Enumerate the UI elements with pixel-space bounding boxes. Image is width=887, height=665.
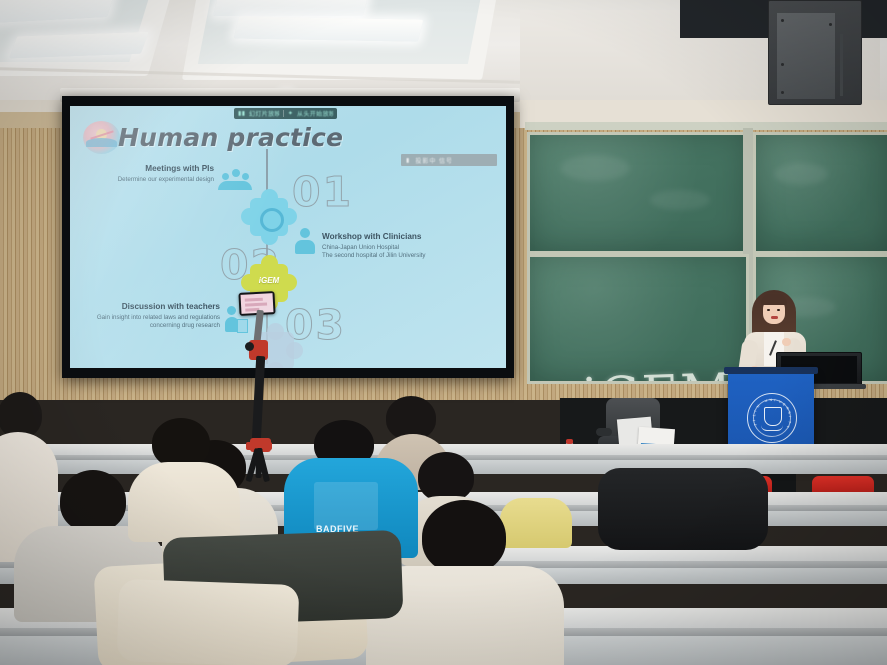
ceiling-light-panel xyxy=(213,0,369,16)
blackboard-panel-bottom-left: iGEM xyxy=(527,254,749,384)
emblem-ring-text: JILIN UNIVERSITY xyxy=(748,394,796,442)
tripod-lock-knob[interactable] xyxy=(245,342,254,351)
ceiling-light-panel xyxy=(234,16,424,41)
draped-cream-coat-over xyxy=(117,579,300,665)
step-block-03: Discussion with teachers Gain insight in… xyxy=(90,301,220,330)
step-heading-02: Workshop with Clinicians xyxy=(322,231,450,242)
black-backpack xyxy=(598,468,768,550)
team-logo xyxy=(83,121,120,154)
screen-status-chip: ▮ 投影中 信号 xyxy=(401,154,497,166)
presenter-fringe xyxy=(761,294,787,305)
step-heading-03: Discussion with teachers xyxy=(90,301,220,312)
pointer-icon[interactable]: ✦ xyxy=(288,110,293,117)
chip-text: 投影中 信号 xyxy=(415,156,453,165)
doctor-icon xyxy=(295,228,315,254)
chalk-text-igem: iGEM xyxy=(581,362,735,384)
chair-armrest xyxy=(596,428,612,436)
chip-glyph: ▮ xyxy=(406,157,410,164)
hoodie-print-panel xyxy=(314,482,378,530)
step-number-01: 01 xyxy=(292,168,353,216)
university-emblem: JILIN UNIVERSITY xyxy=(747,393,797,443)
gear-icon xyxy=(260,208,284,232)
blackboard-panel-top-right xyxy=(753,132,887,254)
audience-member-foreground-right xyxy=(396,500,526,665)
blackboard-panel-top-left xyxy=(527,132,749,254)
speaker-mount-arm xyxy=(840,34,843,96)
slide-title: Human practice xyxy=(118,123,343,152)
people-group-icon xyxy=(218,168,252,190)
toolbar-left-text: 幻灯片放映 xyxy=(249,109,279,118)
toolbar-right-text: 从头开始放映 xyxy=(297,109,333,118)
igem-label: iGEM xyxy=(240,276,298,285)
tripod-center-column xyxy=(252,356,265,442)
lecture-hall-photo: iGEM JILIN UNIVERSITY xyxy=(0,0,887,665)
podium-top-edge xyxy=(724,367,818,374)
step-subtext-02: China-Japan Union Hospital The second ho… xyxy=(322,244,450,260)
step-heading-01: Meetings with PIs xyxy=(98,163,214,174)
wall-speaker xyxy=(768,0,862,105)
puzzle-piece-blue xyxy=(240,188,298,246)
powerpoint-presenter-toolbar[interactable]: ▮▮ 幻灯片放映 ✦ 从头开始放映 xyxy=(234,108,337,119)
audience-member-hoodie-cream xyxy=(144,418,222,536)
speaker-grille xyxy=(777,13,835,99)
step-subtext-03: Gain insight into related laws and regul… xyxy=(90,314,220,330)
step-block-01: Meetings with PIs Determine our experime… xyxy=(98,163,214,184)
step-block-02: Workshop with Clinicians China-Japan Uni… xyxy=(322,231,450,260)
presenter-mouth xyxy=(771,316,778,319)
step-subtext-01: Determine our experimental design xyxy=(98,176,214,184)
toolbar-left-glyph: ▮▮ xyxy=(238,110,245,117)
blackboard-wall: iGEM xyxy=(527,128,887,380)
